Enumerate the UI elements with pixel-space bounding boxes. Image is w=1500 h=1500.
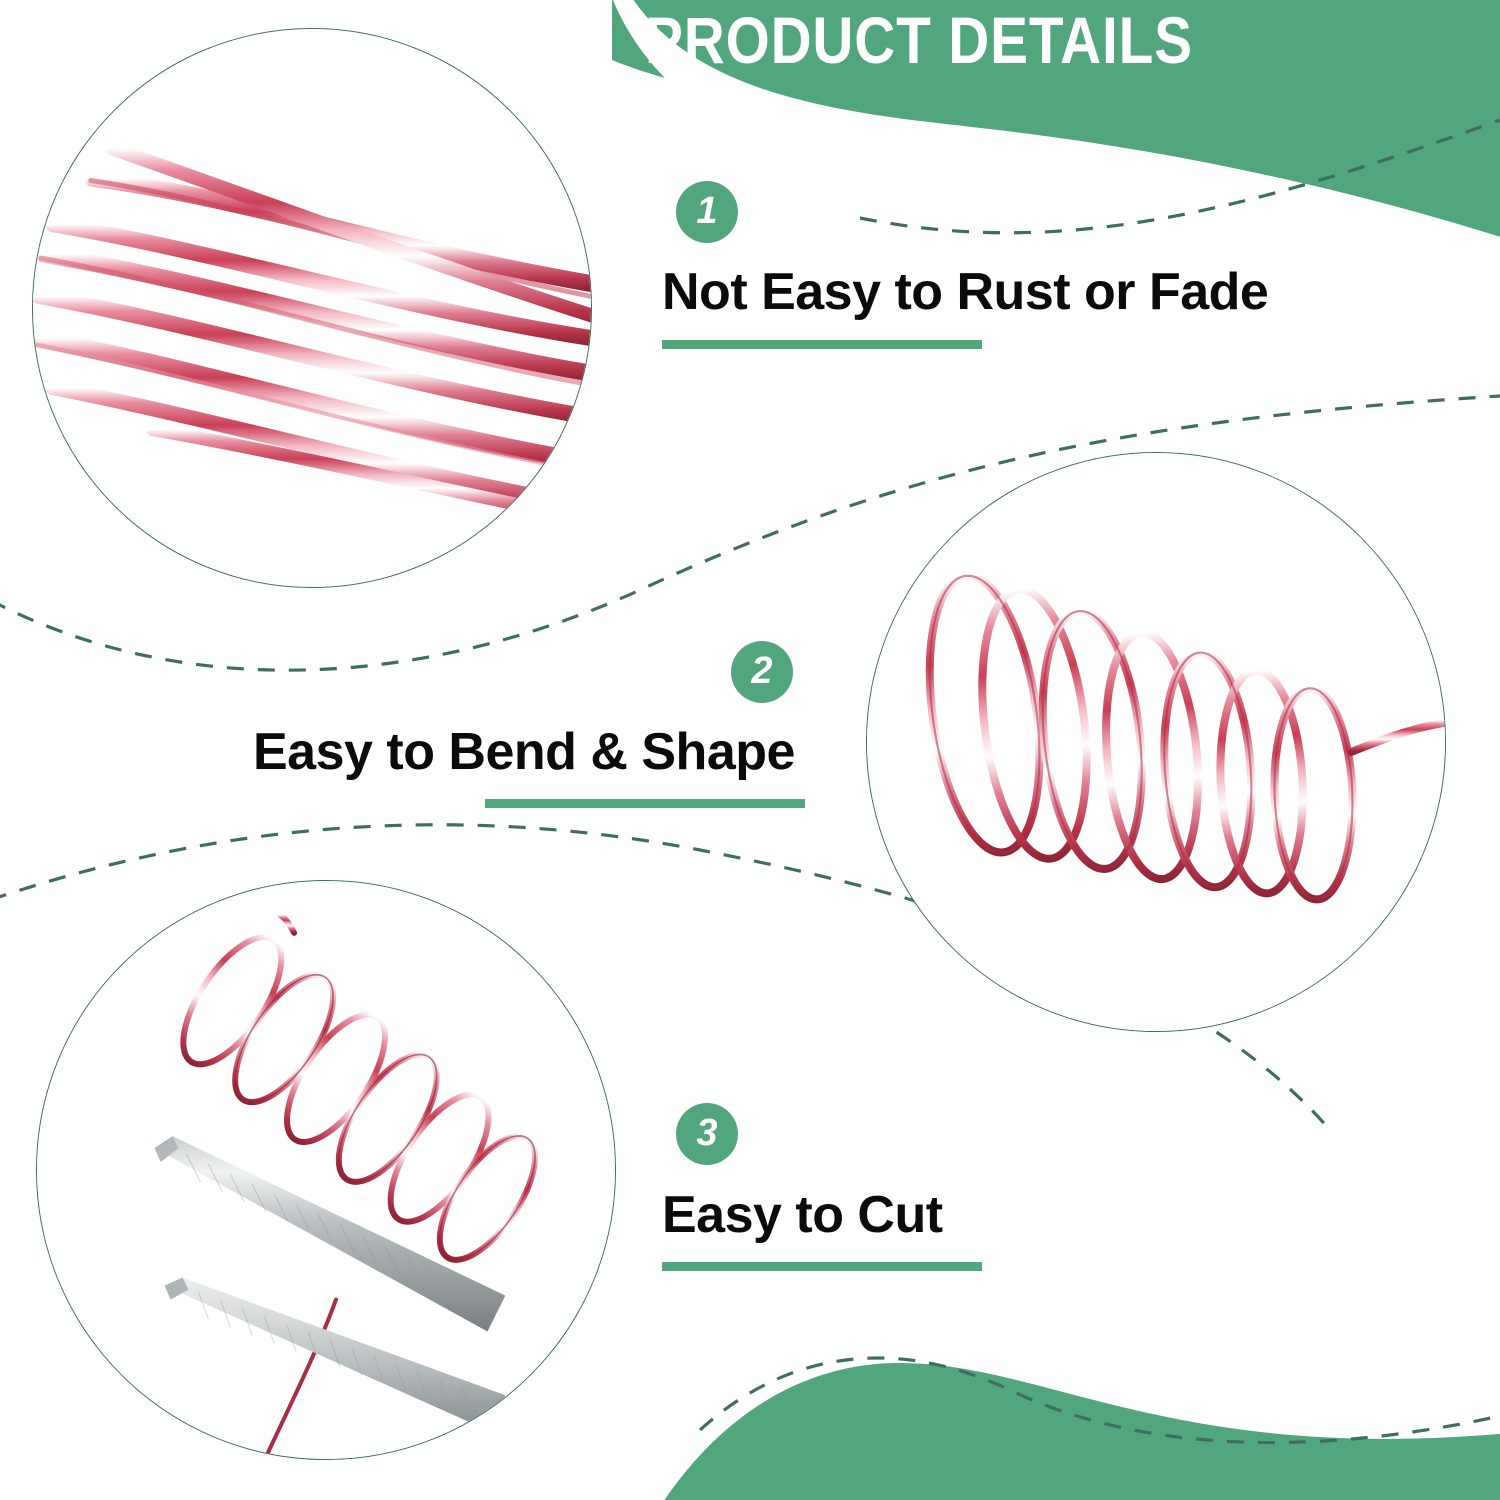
feature-badge-3: 3 bbox=[676, 1103, 738, 1165]
feature-underline-3 bbox=[662, 1262, 982, 1271]
feature-badge-1: 1 bbox=[676, 181, 738, 243]
dashed-curve-bottom bbox=[700, 1358, 1500, 1443]
feature-badge-2: 2 bbox=[731, 641, 793, 703]
feature-badge-number-3: 3 bbox=[696, 1114, 717, 1152]
straight-wire-art bbox=[33, 29, 591, 587]
product-photo-wire-with-pliers bbox=[36, 880, 616, 1460]
infographic-canvas: PRODUCT DETAILS 1 Not Easy to Rust or Fa… bbox=[0, 0, 1500, 1500]
feature-badge-number-1: 1 bbox=[696, 192, 717, 230]
feature-title-1: Not Easy to Rust or Fade bbox=[662, 262, 1268, 322]
product-photo-straight-wire bbox=[32, 28, 592, 588]
feature-title-3: Easy to Cut bbox=[662, 1185, 943, 1245]
wire-cutting-art bbox=[37, 881, 615, 1459]
footer-wave-shape bbox=[640, 1363, 1500, 1500]
page-title: PRODUCT DETAILS bbox=[645, 6, 1247, 75]
coiled-spring-art bbox=[867, 453, 1445, 1031]
feature-badge-number-2: 2 bbox=[751, 652, 772, 690]
feature-underline-2 bbox=[485, 799, 805, 808]
feature-title-2: Easy to Bend & Shape bbox=[253, 722, 795, 782]
dashed-curve-top bbox=[860, 120, 1500, 233]
feature-underline-1 bbox=[662, 340, 982, 349]
product-photo-coiled-spring bbox=[866, 452, 1446, 1032]
